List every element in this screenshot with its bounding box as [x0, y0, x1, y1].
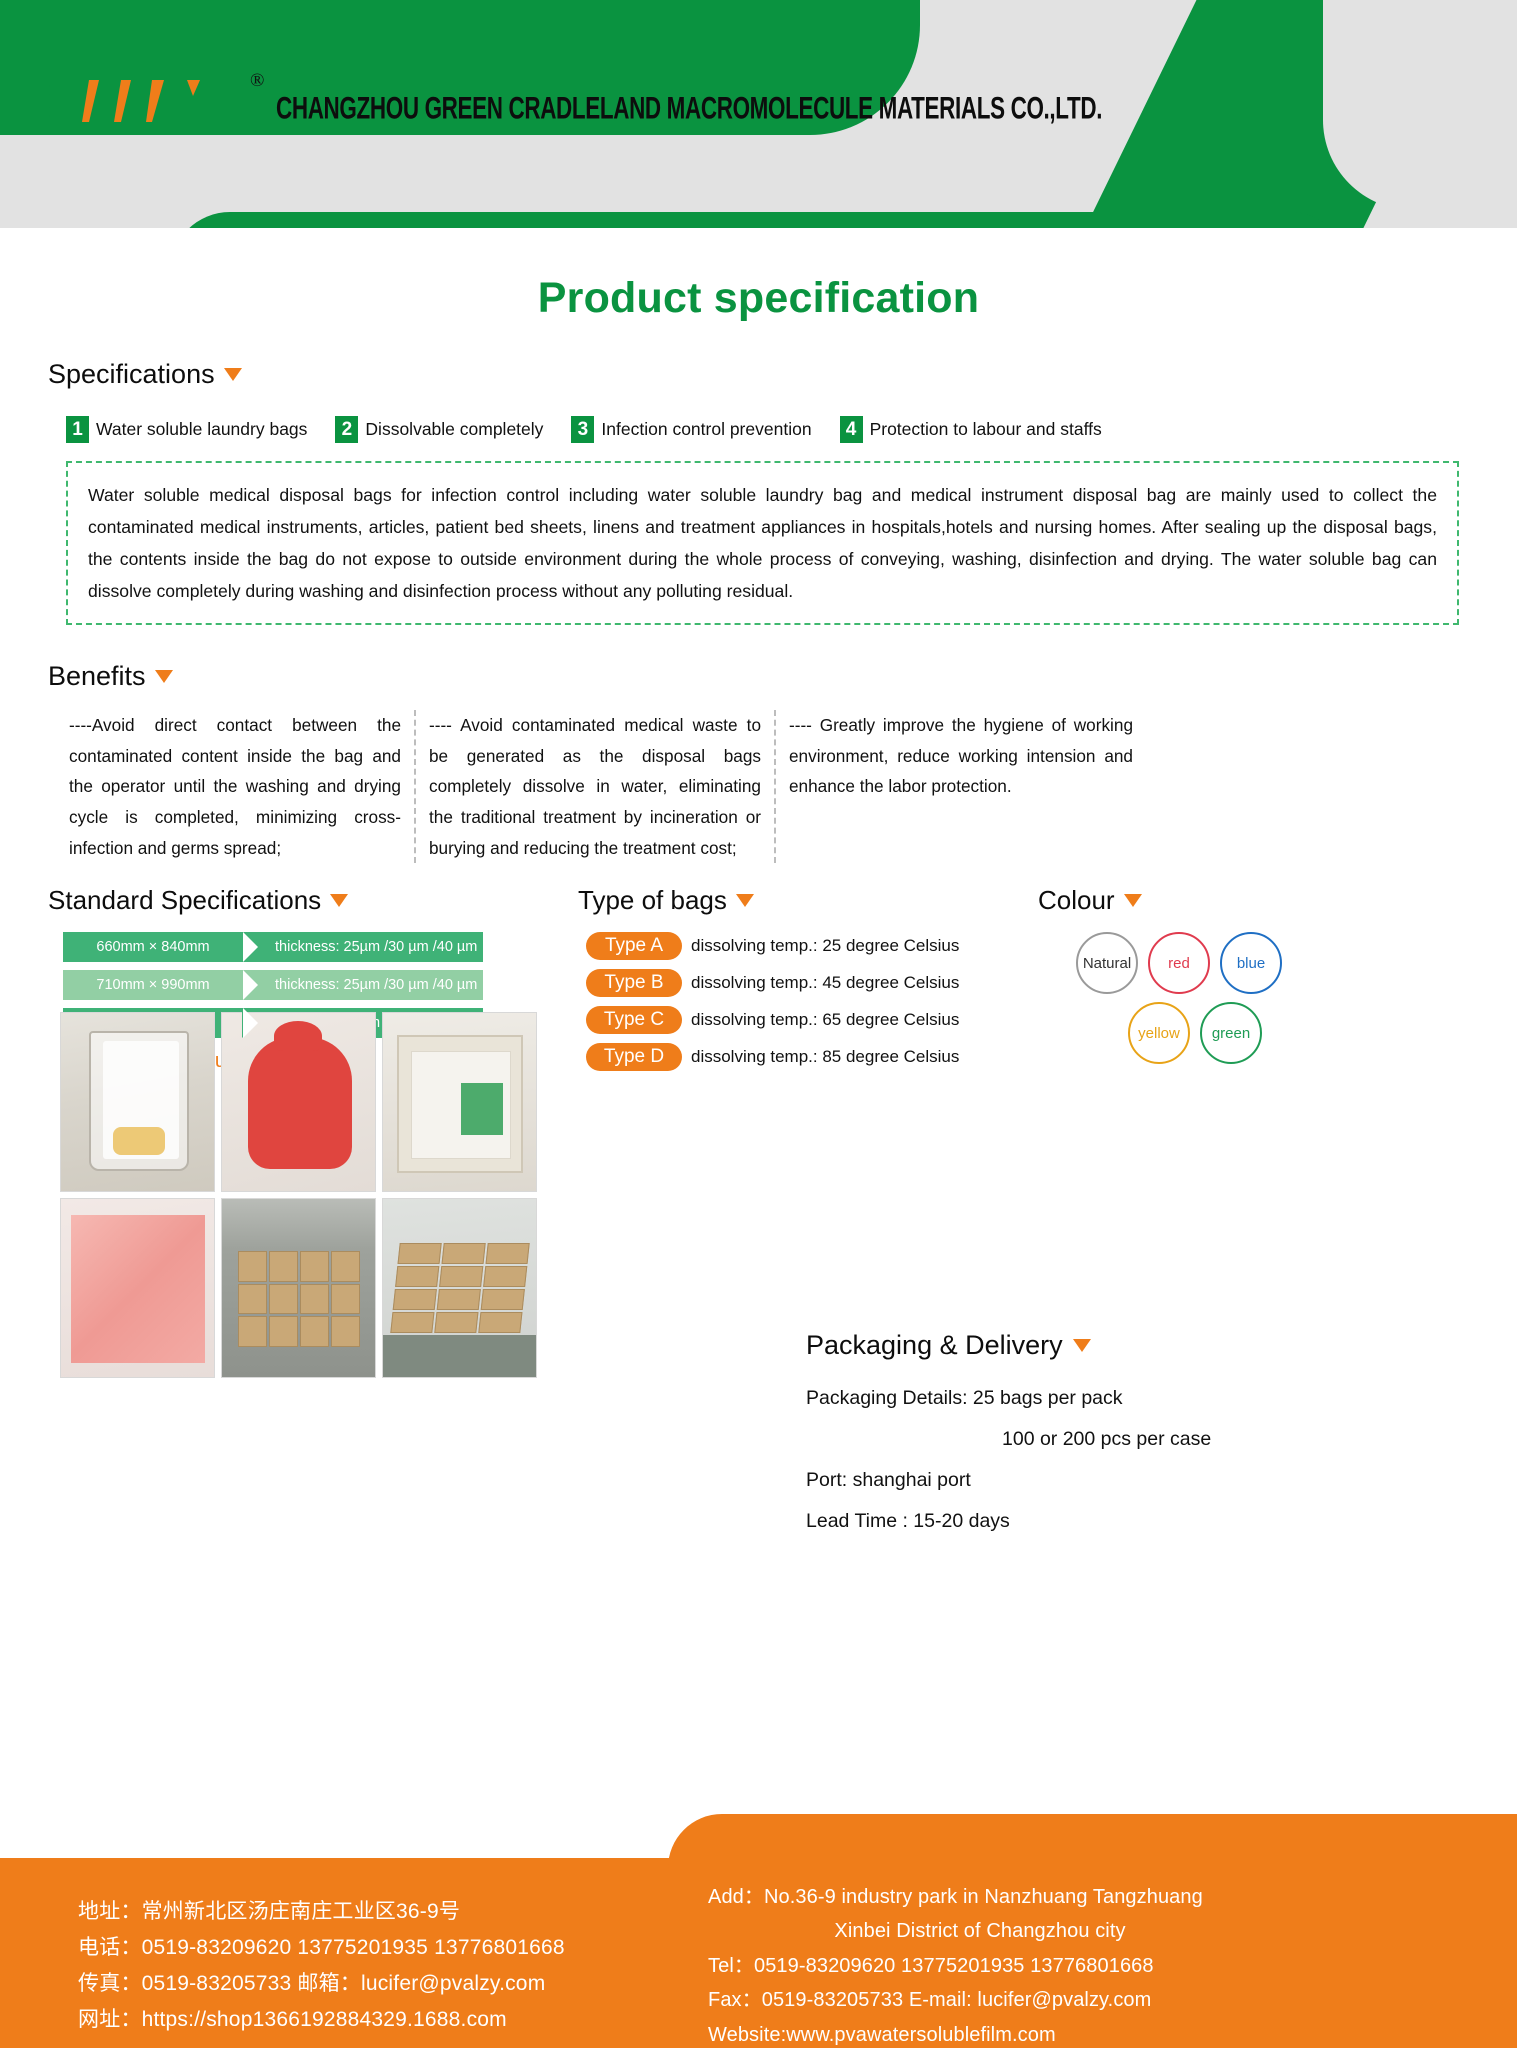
spec-number-badge: 4: [840, 416, 863, 443]
footer-phone-cn: 电话：0519-83209620 13775201935 13776801668: [78, 1930, 700, 1966]
packaging-details-line-2: 100 or 200 pcs per case: [1002, 1428, 1386, 1451]
product-description-text: Water soluble medical disposal bags for …: [88, 479, 1437, 607]
photo-red-filled-bag: [221, 1012, 376, 1192]
spec-size-cell: 660mm × 840mm: [63, 932, 243, 962]
page-footer: 地址：常州新北区汤庄南庄工业区36-9号 电话：0519-83209620 13…: [0, 1814, 1517, 2048]
chevron-down-icon: [1124, 894, 1142, 907]
photo-packed-carton-open: [382, 1012, 537, 1192]
colour-swatch-red: red: [1148, 932, 1210, 994]
type-description: dissolving temp.: 85 degree Celsius: [691, 1047, 959, 1067]
footer-address-en-line2: Xinbei District of Changzhou city: [700, 1914, 1460, 1948]
product-description-box: Water soluble medical disposal bags for …: [66, 461, 1459, 625]
page-header: ® CHANGZHOU GREEN CRADLELAND MACROMOLECU…: [0, 0, 1517, 230]
spec-number-badge: 1: [66, 416, 89, 443]
chevron-down-icon: [1073, 1339, 1091, 1352]
spec-row: 710mm × 990mm thickness: 25µm /30 µm /40…: [63, 970, 483, 1000]
spec-number-badge: 2: [335, 416, 358, 443]
footer-fax-email-cn: 传真：0519-83205733 邮箱：lucifer@pvalzy.com: [78, 1966, 700, 2002]
footer-contact-english: Add：No.36-9 industry park in Nanzhuang T…: [700, 1866, 1460, 2052]
type-description: dissolving temp.: 45 degree Celsius: [691, 973, 959, 993]
specifications-heading-label: Specifications: [48, 359, 215, 390]
packaging-details-line: Packaging Details: 25 bags per pack: [806, 1387, 1386, 1410]
chevron-down-icon: [155, 670, 173, 683]
chevron-down-icon: [736, 894, 754, 907]
type-of-bags-column: Type of bags Type A dissolving temp.: 25…: [578, 885, 1038, 1080]
product-photo-grid: [60, 1012, 578, 1384]
type-row: Type B dissolving temp.: 45 degree Celsi…: [586, 969, 1038, 997]
red-bag-knot-shape: [274, 1021, 322, 1051]
benefits-heading: Benefits: [48, 661, 1469, 692]
spec-thickness-cell: thickness: 25µm /30 µm /40 µm: [243, 970, 483, 1000]
colour-swatch-blue: blue: [1220, 932, 1282, 994]
chevron-down-icon: [330, 894, 348, 907]
pink-film-shape: [71, 1215, 205, 1363]
type-row: Type A dissolving temp.: 25 degree Celsi…: [586, 932, 1038, 960]
bin-shape: [89, 1031, 189, 1171]
spec-item-3: 3 Infection control prevention: [571, 416, 811, 443]
packaging-port-line: Port: shanghai port: [806, 1469, 1386, 1492]
packaging-lead-time-line: Lead Time : 15-20 days: [806, 1510, 1386, 1533]
spec-item-label: Water soluble laundry bags: [96, 419, 307, 440]
footer-website-cn[interactable]: 网址：https://shop1366192884329.1688.com: [78, 2002, 700, 2038]
pallet-stack-shape: [390, 1243, 529, 1333]
packaging-heading: Packaging & Delivery: [806, 1330, 1386, 1361]
footer-website-en[interactable]: Website:www.pvawatersolublefilm.com: [700, 2018, 1460, 2052]
type-of-bags-heading-label: Type of bags: [578, 885, 727, 916]
benefits-heading-label: Benefits: [48, 661, 146, 692]
registered-trademark-icon: ®: [250, 70, 264, 92]
type-row: Type C dissolving temp.: 65 degree Celsi…: [586, 1006, 1038, 1034]
type-badge: Type A: [586, 932, 682, 960]
benefit-column-1: ----Avoid direct contact between the con…: [56, 710, 416, 863]
page-content: Product specification Specifications 1 W…: [0, 274, 1517, 1080]
type-row: Type D dissolving temp.: 85 degree Celsi…: [586, 1043, 1038, 1071]
header-bottom-mask: [0, 228, 1517, 230]
page-title: Product specification: [48, 274, 1469, 323]
spec-row: 660mm × 840mm thickness: 25µm /30 µm /40…: [63, 932, 483, 962]
spec-item-label: Dissolvable completely: [365, 419, 543, 440]
spec-item-label: Infection control prevention: [601, 419, 811, 440]
type-badge: Type B: [586, 969, 682, 997]
header-grey-rounded-corner: [1323, 0, 1517, 210]
type-description: dissolving temp.: 25 degree Celsius: [691, 936, 959, 956]
footer-address-cn: 地址：常州新北区汤庄南庄工业区36-9号: [78, 1894, 700, 1930]
spec-size-cell: 710mm × 990mm: [63, 970, 243, 1000]
footer-rounded-tab: [668, 1814, 1517, 1874]
type-badge: Type C: [586, 1006, 682, 1034]
photo-container-loading: [221, 1198, 376, 1378]
photo-row-1: [60, 1012, 578, 1192]
specifications-heading: Specifications: [48, 359, 1469, 390]
type-of-bags-heading: Type of bags: [578, 885, 1038, 916]
colour-column: Colour Natural red blue yellow green: [1038, 885, 1458, 1080]
type-description: dissolving temp.: 65 degree Celsius: [691, 1010, 959, 1030]
footer-tel-en: Tel：0519-83209620 13775201935 1377680166…: [700, 1949, 1460, 1983]
warehouse-floor-shape: [383, 1335, 536, 1377]
benefit-column-3: ---- Greatly improve the hygiene of work…: [776, 710, 1146, 863]
footer-columns: 地址：常州新北区汤庄南庄工业区36-9号 电话：0519-83209620 13…: [0, 1866, 1517, 2052]
colour-row-1: Natural red blue: [1076, 932, 1458, 994]
spec-thickness-cell: thickness: 25µm /30 µm /40 µm: [243, 932, 483, 962]
spec-item-4: 4 Protection to labour and staffs: [840, 416, 1102, 443]
photo-palletized-cartons: [382, 1198, 537, 1378]
packaging-heading-label: Packaging & Delivery: [806, 1330, 1063, 1361]
carton-stack-shape: [238, 1251, 360, 1347]
colour-heading: Colour: [1038, 885, 1458, 916]
photo-clear-bag-in-bin: [60, 1012, 215, 1192]
trash-contents-shape: [113, 1127, 165, 1155]
colour-swatch-natural: Natural: [1076, 932, 1138, 994]
colour-swatch-green: green: [1200, 1002, 1262, 1064]
type-badge: Type D: [586, 1043, 682, 1071]
spec-item-2: 2 Dissolvable completely: [335, 416, 543, 443]
packaging-delivery-section: Packaging & Delivery Packaging Details: …: [806, 1330, 1386, 1551]
spec-item-label: Protection to labour and staffs: [870, 419, 1102, 440]
chevron-down-icon: [224, 368, 242, 381]
logo-mark-cllzy: [48, 74, 248, 130]
company-logo: ® CHANGZHOU GREEN CRADLELAND MACROMOLECU…: [48, 74, 1215, 130]
spec-number-badge: 3: [571, 416, 594, 443]
footer-address-en-line1: Add：No.36-9 industry park in Nanzhuang T…: [700, 1880, 1460, 1914]
photo-pink-film-sheet: [60, 1198, 215, 1378]
benefit-column-2: ---- Avoid contaminated medical waste to…: [416, 710, 776, 863]
colour-swatch-yellow: yellow: [1128, 1002, 1190, 1064]
colour-swatches: Natural red blue yellow green: [1076, 932, 1458, 1064]
spec-item-1: 1 Water soluble laundry bags: [66, 416, 307, 443]
colour-heading-label: Colour: [1038, 885, 1115, 916]
carton-label-shape: [461, 1083, 503, 1135]
colour-row-2: yellow green: [1128, 1002, 1458, 1064]
footer-fax-email-en: Fax：0519-83205733 E-mail: lucifer@pvalzy…: [700, 1983, 1460, 2017]
logo-letters-icon: [48, 72, 248, 130]
company-name-text: CHANGZHOU GREEN CRADLELAND MACROMOLECULE…: [276, 91, 1102, 126]
benefits-columns: ----Avoid direct contact between the con…: [48, 710, 1469, 863]
carton-shape: [397, 1035, 523, 1173]
footer-contact-chinese: 地址：常州新北区汤庄南庄工业区36-9号 电话：0519-83209620 13…: [0, 1866, 700, 2052]
specifications-numbered-list: 1 Water soluble laundry bags 2 Dissolvab…: [48, 416, 1469, 443]
standard-specifications-heading-label: Standard Specifications: [48, 885, 321, 916]
red-bag-shape: [248, 1037, 352, 1169]
standard-specifications-heading: Standard Specifications: [48, 885, 578, 916]
photo-row-2: [60, 1198, 578, 1378]
